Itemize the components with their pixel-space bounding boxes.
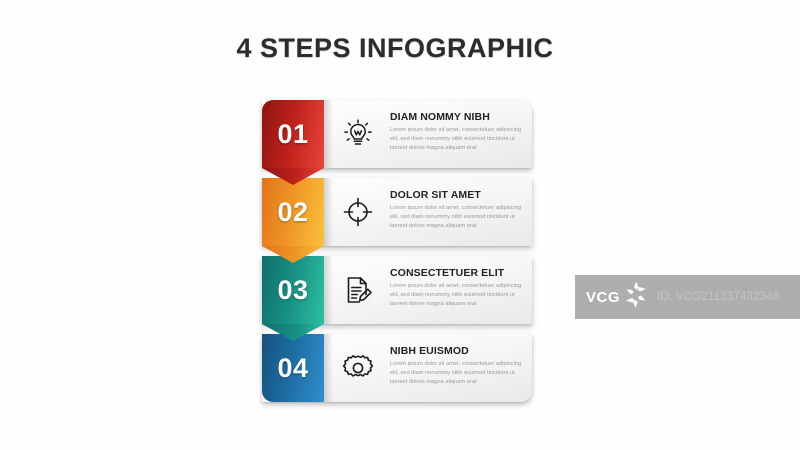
step-number: 03 <box>262 256 324 324</box>
vcg-image-id: ID: VCG211337432348 <box>657 291 780 303</box>
step-title: DIAM NOMMY NIBH <box>390 111 522 123</box>
step-description: Lorem ipsum dolor sit amet, consectetuer… <box>390 282 522 310</box>
lightbulb-icon <box>338 114 378 154</box>
step-number: 01 <box>262 100 324 168</box>
vcg-logo-text: VCG <box>586 289 620 306</box>
step-text: DOLOR SIT AMET Lorem ipsum dolor sit ame… <box>390 189 522 232</box>
step-row[interactable]: 01 DIAM NOMMY NIBH Lorem ipsum dolor sit… <box>262 100 532 168</box>
step-number-ribbon: 04 <box>262 334 324 402</box>
step-number-ribbon: 02 <box>262 178 324 246</box>
infographic-canvas: 4 STEPS INFOGRAPHIC 01 DIAM NOMMY NIBH <box>0 0 800 450</box>
step-number-ribbon: 03 <box>262 256 324 324</box>
vcg-flower-icon <box>621 280 651 315</box>
vcg-watermark: VCG ID: VCG211337432348 <box>575 275 800 319</box>
step-description: Lorem ipsum dolor sit amet, consectetuer… <box>390 204 522 232</box>
step-row[interactable]: 04 NIBH EUISMOD Lorem ipsum dolor sit am… <box>262 334 532 402</box>
step-number-ribbon: 01 <box>262 100 324 168</box>
step-description: Lorem ipsum dolor sit amet, consectetuer… <box>390 126 522 154</box>
step-row[interactable]: 02 DOLOR SIT AMET Lorem ipsum dolor sit … <box>262 178 532 246</box>
gear-icon <box>338 348 378 388</box>
step-title: NIBH EUISMOD <box>390 345 522 357</box>
page-title: 4 STEPS INFOGRAPHIC <box>0 33 790 64</box>
step-description: Lorem ipsum dolor sit amet, consectetuer… <box>390 360 522 388</box>
target-icon <box>338 192 378 232</box>
step-title: DOLOR SIT AMET <box>390 189 522 201</box>
document-pencil-icon <box>338 270 378 310</box>
step-text: DIAM NOMMY NIBH Lorem ipsum dolor sit am… <box>390 111 522 154</box>
step-text: NIBH EUISMOD Lorem ipsum dolor sit amet,… <box>390 345 522 388</box>
step-row[interactable]: 03 CONSECTETUER ELIT Lorem ipsum dolor s… <box>262 256 532 324</box>
step-text: CONSECTETUER ELIT Lorem ipsum dolor sit … <box>390 267 522 310</box>
step-title: CONSECTETUER ELIT <box>390 267 522 279</box>
step-number: 02 <box>262 178 324 246</box>
steps-list: 01 DIAM NOMMY NIBH Lorem ipsum dolor sit… <box>262 100 532 402</box>
step-number: 04 <box>262 334 324 402</box>
